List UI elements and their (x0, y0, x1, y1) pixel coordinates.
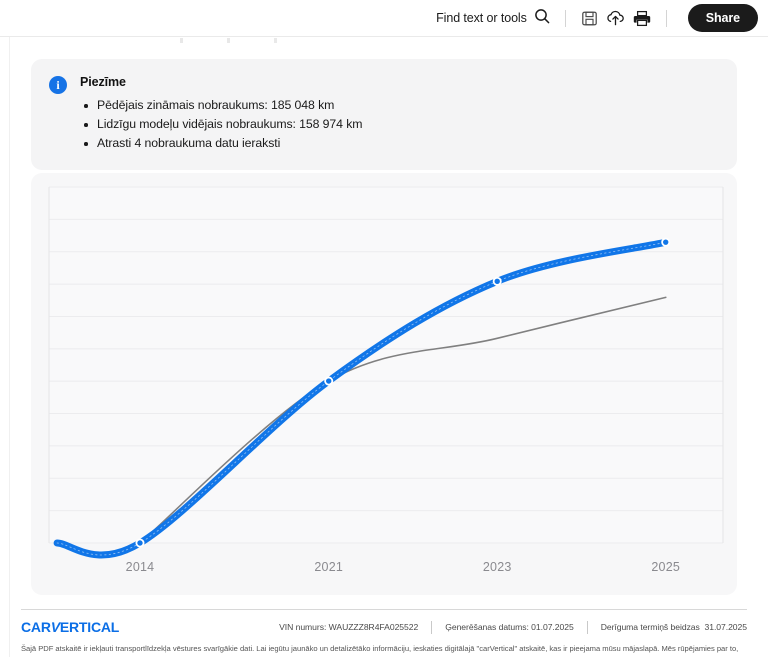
info-icon: i (49, 76, 67, 94)
meta-divider-2 (587, 621, 588, 634)
mileage-line-chart: 2014202120232025 (31, 173, 737, 595)
page-footer: CARVERTICAL VIN numurs: WAUZZZ8R4FA02552… (21, 609, 747, 657)
pdf-page: i Piezīme Pēdējais zināmais nobraukums: … (0, 36, 768, 657)
find-text-or-tools-button[interactable]: Find text or tools (432, 5, 554, 32)
notice-title: Piezīme (80, 75, 719, 89)
logo-part-1: CAR (21, 619, 51, 635)
toolbar-divider-2 (666, 10, 667, 27)
generated-label: Ģenerēšanas datums: (445, 622, 529, 632)
print-icon[interactable] (629, 5, 655, 31)
list-item: Lidzīgu modeļu vidējais nobraukums: 158 … (80, 115, 719, 134)
expiry-value: 31.07.2025 (704, 622, 747, 632)
vin-label: VIN numurs: (279, 622, 326, 632)
page-left-margin (0, 37, 10, 657)
clipped-text-remnant (180, 38, 277, 43)
notice-box: i Piezīme Pēdējais zināmais nobraukums: … (31, 59, 737, 170)
upload-cloud-icon[interactable] (603, 5, 629, 31)
list-item: Pēdējais zināmais nobraukums: 185 048 km (80, 96, 719, 115)
footer-meta: VIN numurs: WAUZZZ8R4FA025522 Ģenerēšana… (279, 621, 747, 634)
notice-content: Piezīme Pēdējais zināmais nobraukums: 18… (80, 75, 719, 153)
footer-divider (21, 609, 747, 610)
carvertical-logo: CARVERTICAL (21, 619, 119, 635)
chart-container: 2014202120232025 (31, 173, 737, 595)
vin-value: WAUZZZ8R4FA025522 (329, 622, 419, 632)
toolbar-divider-1 (565, 10, 566, 27)
footer-disclaimer: Šajā PDF atskaitē ir iekļauti transportl… (21, 643, 747, 657)
logo-part-2: ERTICAL (60, 619, 119, 635)
pdf-toolbar: Find text or tools Share (0, 0, 768, 36)
footer-meta-row: CARVERTICAL VIN numurs: WAUZZZ8R4FA02552… (21, 619, 747, 635)
x-axis-tick-label: 2021 (314, 560, 343, 574)
x-axis-tick-label: 2025 (651, 560, 680, 574)
find-label: Find text or tools (436, 11, 527, 25)
generated-value: 01.07.2025 (531, 622, 574, 632)
x-axis-tick-label: 2014 (126, 560, 155, 574)
expiry-label: Derīguma termiņš beidzas (601, 622, 700, 632)
search-icon[interactable] (534, 8, 550, 29)
mileage-chart-panel: 2014202120232025 (31, 173, 737, 595)
notice-list: Pēdējais zināmais nobraukums: 185 048 km… (80, 96, 719, 153)
list-item: Atrasti 4 nobraukuma datu ieraksti (80, 134, 719, 153)
meta-divider-1 (431, 621, 432, 634)
x-axis-tick-label: 2023 (483, 560, 512, 574)
save-floppy-icon[interactable] (577, 5, 603, 31)
share-button[interactable]: Share (688, 4, 758, 32)
